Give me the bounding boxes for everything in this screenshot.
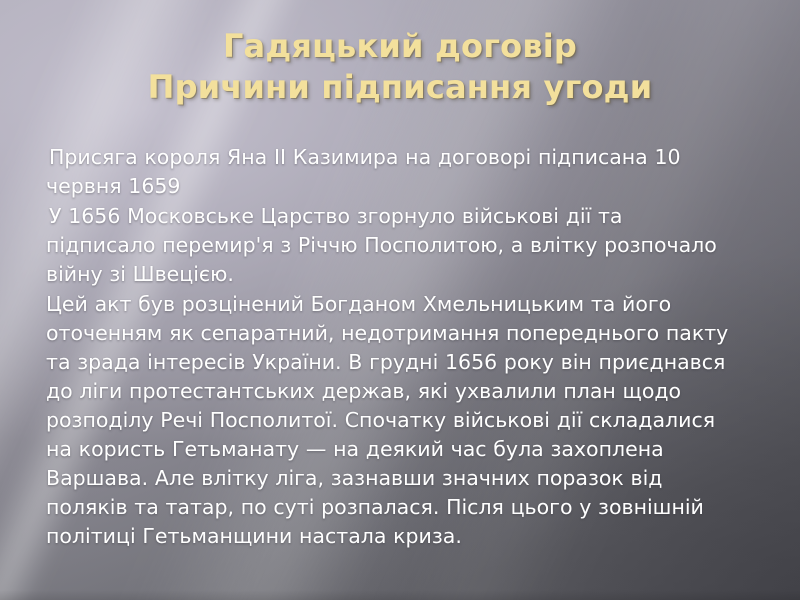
body-paragraph-2: У 1656 Московське Царство згорнуло війсь… bbox=[46, 202, 730, 289]
body-paragraph-1: Присяга короля Яна II Казимира на догово… bbox=[46, 143, 730, 201]
slide-body: Присяга короля Яна II Казимира на догово… bbox=[46, 143, 730, 552]
slide-title-line-2: Причини підписання угоди bbox=[0, 67, 800, 108]
presentation-slide: Гадяцький договір Причини підписання уго… bbox=[0, 0, 800, 600]
body-paragraph-3: Цей акт був розцінений Богданом Хмельниц… bbox=[46, 290, 730, 551]
slide-title: Гадяцький договір Причини підписання уго… bbox=[0, 26, 800, 108]
slide-title-line-1: Гадяцький договір bbox=[0, 26, 800, 67]
background-bottom-edge bbox=[0, 590, 800, 600]
